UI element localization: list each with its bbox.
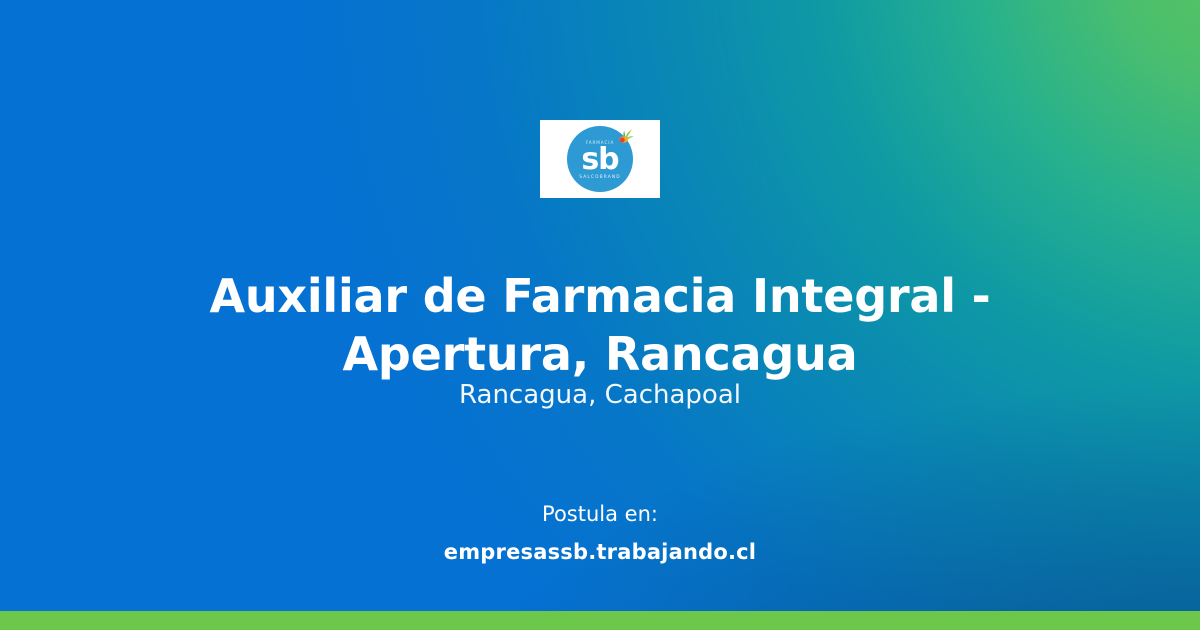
logo-bottom-text: SALCOBRAND: [567, 175, 633, 180]
apply-url[interactable]: empresassb.trabajando.cl: [60, 538, 1140, 566]
salcobrand-logo-icon: FARMACIA sb SALCOBRAND: [567, 126, 633, 192]
apply-label: Postula en:: [60, 500, 1140, 528]
logo-wordmark: sb: [567, 145, 633, 175]
job-share-card: FARMACIA sb SALCOBRAND Auxiliar de Farma…: [0, 0, 1200, 630]
bottom-accent-bar: [0, 611, 1200, 630]
logo-leaf-icon: [615, 125, 635, 143]
card-content: FARMACIA sb SALCOBRAND Auxiliar de Farma…: [0, 0, 1200, 611]
job-location: Rancagua, Cachapoal: [60, 378, 1140, 412]
job-title-line-1: Auxiliar de Farmacia Integral -: [209, 269, 990, 323]
job-title-line-2: Apertura, Rancagua: [342, 327, 857, 381]
company-logo-plate: FARMACIA sb SALCOBRAND: [540, 120, 660, 198]
apply-call-to-action: Postula en: empresassb.trabajando.cl: [60, 500, 1140, 566]
job-title: Auxiliar de Farmacia Integral -Apertura,…: [60, 267, 1140, 383]
